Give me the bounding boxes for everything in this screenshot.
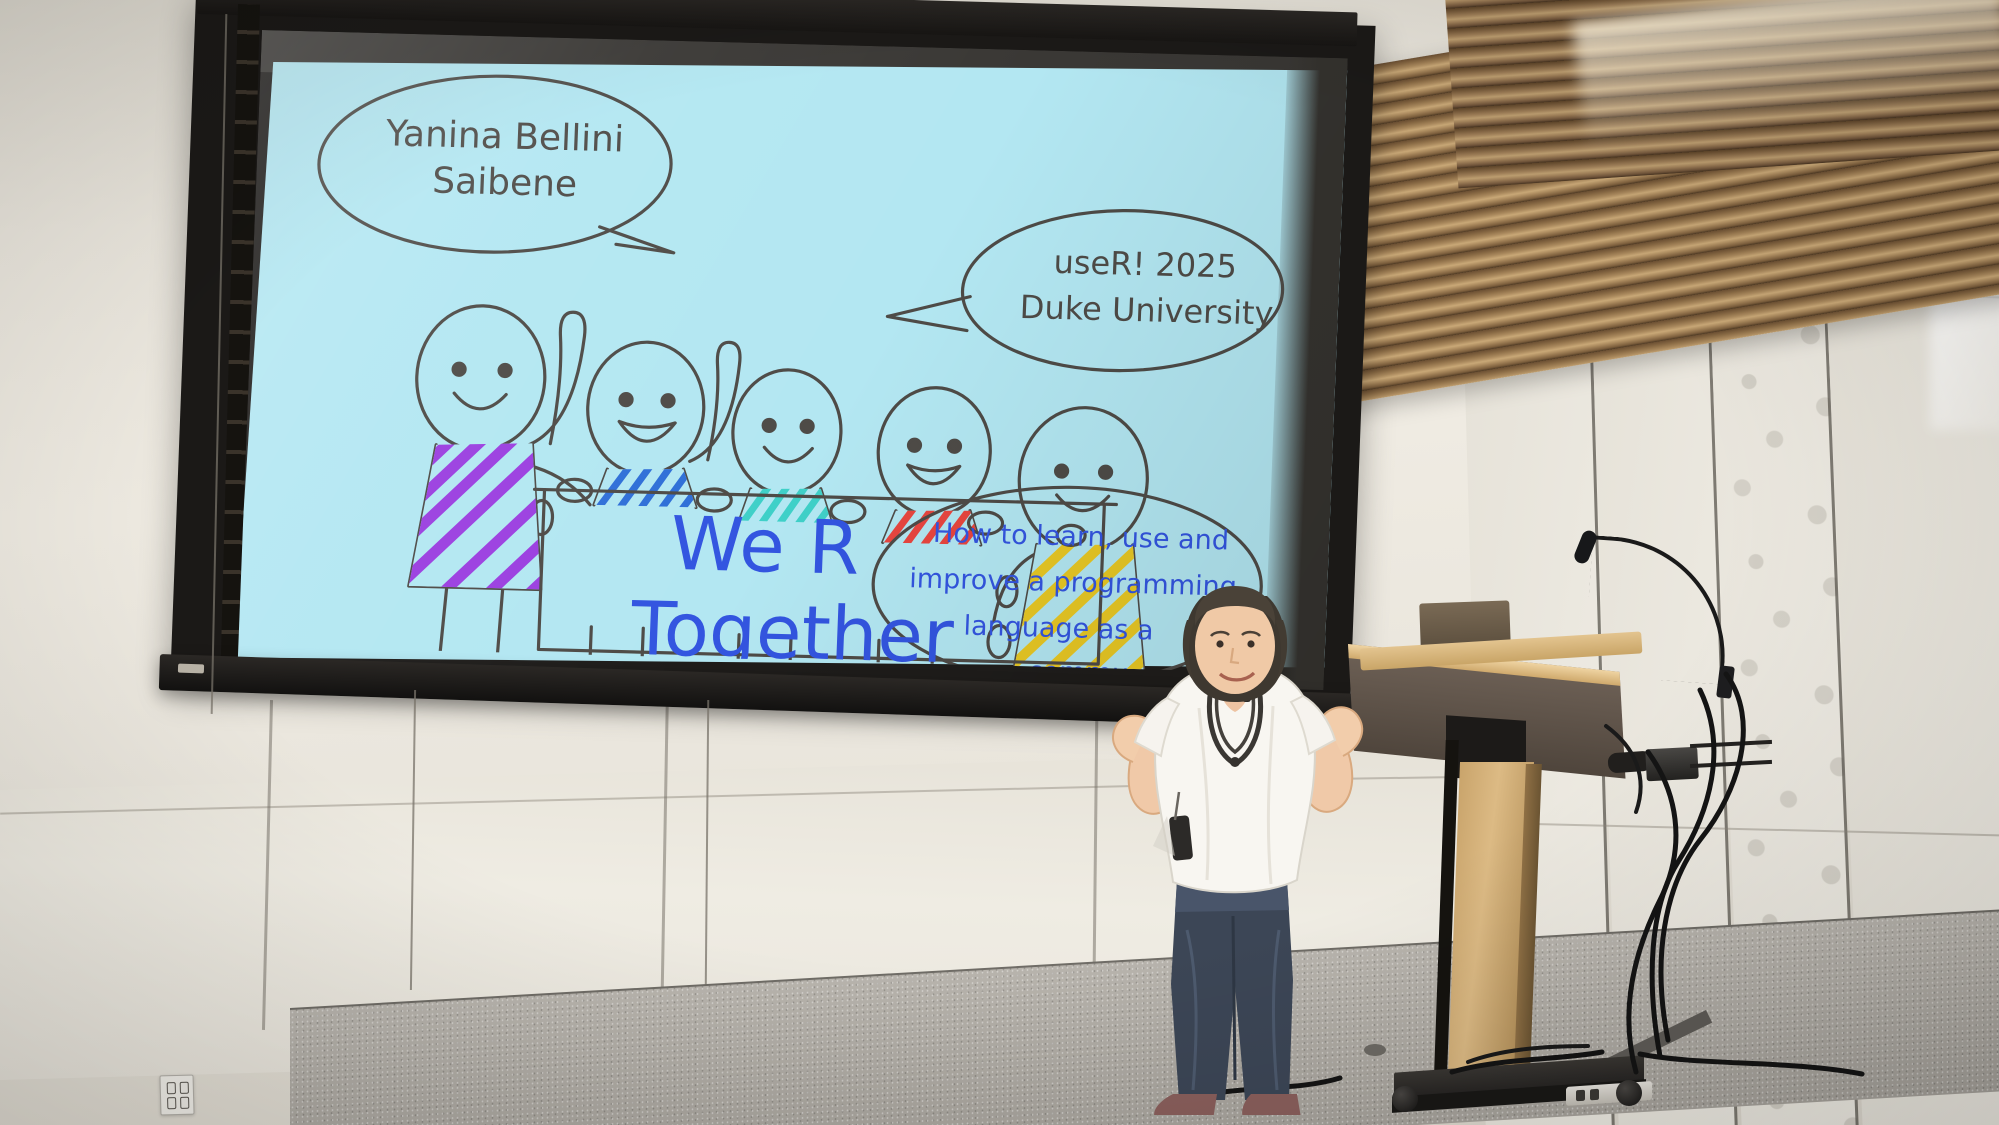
bubble-text-line: Yanina Bellini [384,113,624,160]
microphone-base [1716,665,1735,699]
bubble-speaker-name-text: Yanina Bellini Saibene [383,113,625,206]
presenter-shoes [1154,1094,1301,1115]
screen-brand-badge [178,664,204,674]
bubble-text-line: Duke University [1019,288,1274,333]
cart-wheel [1616,1080,1642,1106]
banner-line: We R [669,501,862,592]
bubble-text-line: How to learn, use and [933,518,1230,557]
presenter-head [1183,586,1287,702]
slide-illustration: Yanina Bellini Saibene useR! 2025 Duke U… [238,30,1347,674]
bubble-text-line: useR! 2025 [1053,243,1238,286]
cart-wheel [1392,1086,1418,1112]
conference-presentation-photo: Yanina Bellini Saibene useR! 2025 Duke U… [0,0,1999,1125]
presenter-jeans [1171,880,1293,1100]
bubble-text-line: Saibene [432,161,578,206]
microphone-gooseneck [1583,535,1732,684]
wall-outlet-left [159,1075,194,1116]
bubble-event-venue-text: useR! 2025 Duke University [1019,242,1276,333]
presenter [1075,580,1395,1115]
